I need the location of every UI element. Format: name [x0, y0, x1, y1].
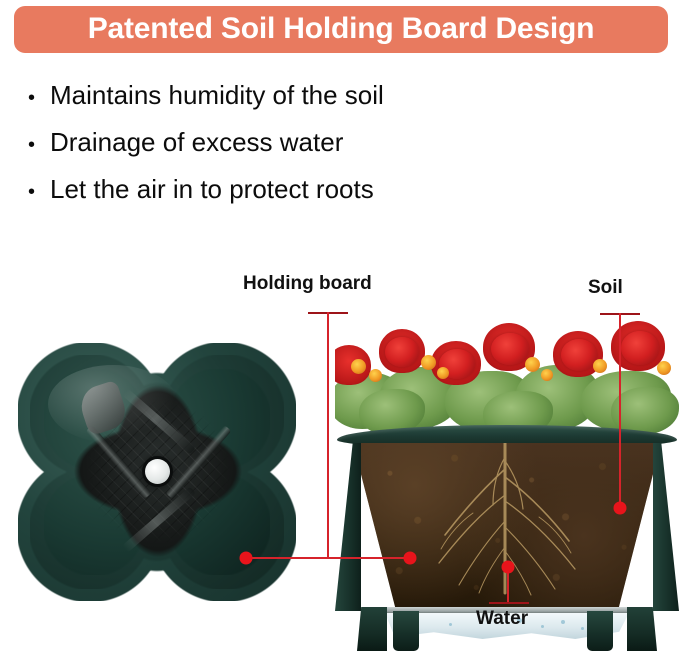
list-item-label: Drainage of excess water — [50, 119, 343, 166]
leader-dot-soil — [614, 502, 627, 515]
orange-flower — [541, 369, 553, 381]
feature-list: • Maintains humidity of the soil • Drain… — [28, 72, 588, 213]
orange-flower — [421, 355, 436, 370]
callout-label-soil: Soil — [588, 277, 623, 299]
holding-board-illustration — [18, 343, 296, 601]
orange-flower — [525, 357, 540, 372]
orange-flower — [593, 359, 607, 373]
planter-wall-right — [653, 443, 679, 611]
red-flower-core — [561, 339, 597, 371]
bullet-icon: • — [28, 122, 50, 169]
leader-stem-holding-board — [327, 312, 329, 558]
callout-label-water: Water — [476, 608, 528, 630]
list-item-label: Maintains humidity of the soil — [50, 72, 384, 119]
flower-bed — [335, 315, 679, 437]
water-bubble — [541, 625, 544, 628]
leader-stem-soil — [619, 313, 621, 509]
leader-run-holding-board — [245, 557, 411, 559]
leader-crossbar-water — [489, 602, 529, 604]
planter-wall-left — [335, 443, 361, 611]
planter-foot — [587, 611, 613, 651]
water-bubble — [449, 623, 452, 626]
list-item: • Drainage of excess water — [28, 119, 588, 166]
list-item: • Maintains humidity of the soil — [28, 72, 588, 119]
red-flower-core — [385, 337, 419, 367]
foliage-leaf — [611, 387, 679, 435]
planter-base-corner-left — [357, 607, 387, 651]
page-title: Patented Soil Holding Board Design — [14, 6, 668, 53]
red-flower-core — [491, 333, 529, 365]
orange-flower — [437, 367, 449, 379]
bullet-icon: • — [28, 75, 50, 122]
planter-foot — [393, 611, 419, 651]
leader-dot-water — [502, 561, 515, 574]
header-banner: Patented Soil Holding Board Design — [14, 6, 668, 53]
list-item: • Let the air in to protect roots — [28, 166, 588, 213]
orange-flower — [657, 361, 671, 375]
product-diagram: Holding board Soil Water — [0, 255, 679, 638]
red-flower-core — [621, 331, 659, 365]
water-bubble — [581, 627, 584, 630]
water-bubble — [561, 620, 565, 624]
orange-flower — [351, 359, 366, 374]
callout-label-holding-board: Holding board — [243, 273, 372, 295]
list-item-label: Let the air in to protect roots — [50, 166, 374, 213]
leader-dot-holding-board-left — [240, 552, 253, 565]
leader-dot-holding-board-right — [404, 552, 417, 565]
planter-base-corner-right — [627, 607, 657, 651]
orange-flower — [369, 369, 382, 382]
holding-board-center-hole — [145, 459, 170, 484]
bullet-icon: • — [28, 169, 50, 216]
